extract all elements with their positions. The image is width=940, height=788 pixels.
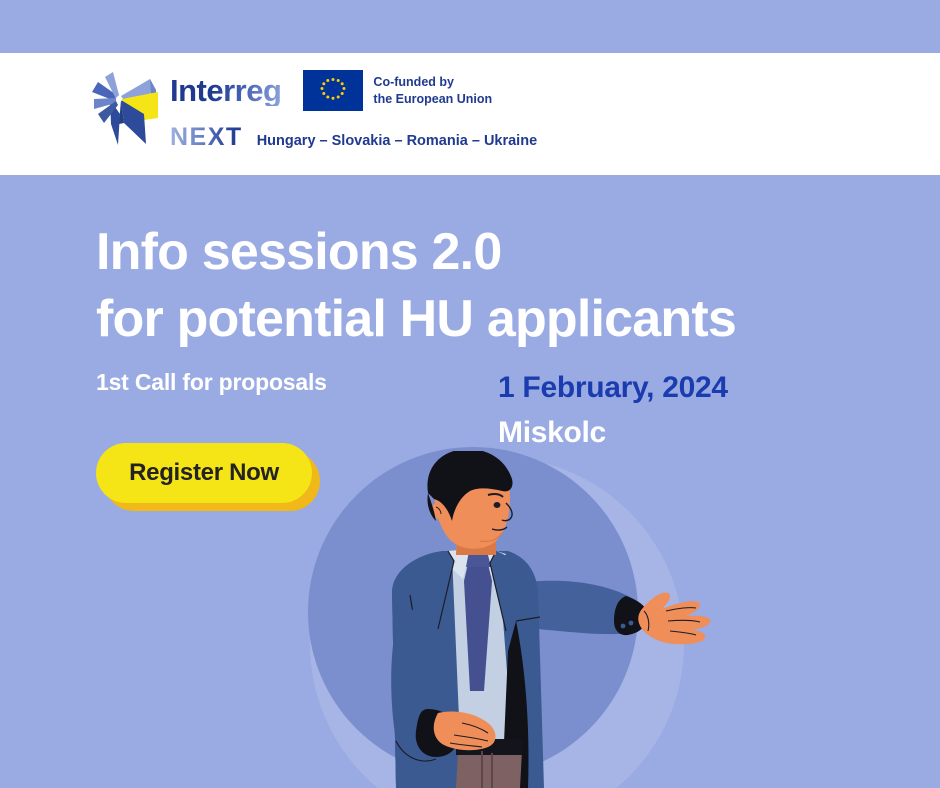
interreg-pinwheel-icon (88, 66, 160, 154)
hero-section: Info sessions 2.0 for potential HU appli… (0, 175, 940, 788)
eu-caption-line-2: the European Union (373, 91, 492, 108)
headline-line-2: for potential HU applicants (96, 286, 736, 353)
logo-primary-row: Interreg (170, 70, 537, 111)
event-banner: Interreg (0, 0, 940, 788)
eu-funding-caption: Co-funded by the European Union (373, 74, 492, 107)
eu-caption-line-1: Co-funded by (373, 74, 492, 91)
businessman-figure-icon (330, 451, 730, 788)
eu-funding-block: Co-funded by the European Union (303, 70, 492, 111)
logo-secondary-row: NEXT Hungary – Slovakia – Romania – Ukra… (170, 125, 537, 150)
subtitle: 1st Call for proposals (96, 369, 327, 396)
register-cta-wrapper: Register Now (96, 443, 320, 511)
interreg-wordmark: Interreg (170, 75, 281, 106)
programme-countries-label: Hungary – Slovakia – Romania – Ukraine (257, 133, 537, 149)
event-details-block: 1 February, 2024 Miskolc (498, 371, 728, 450)
logo-text-column: Interreg (170, 66, 537, 150)
headline-line-1: Info sessions 2.0 (96, 219, 736, 286)
page-title: Info sessions 2.0 for potential HU appli… (96, 219, 736, 352)
next-wordmark: NEXT (170, 125, 243, 150)
top-color-strip (0, 0, 940, 53)
interreg-next-logo-lockup: Interreg (88, 66, 537, 154)
register-now-button[interactable]: Register Now (96, 443, 312, 503)
european-union-flag-icon (303, 70, 363, 111)
event-city: Miskolc (498, 416, 728, 450)
businessman-presenting-illustration (330, 451, 730, 788)
event-date: 1 February, 2024 (498, 371, 728, 405)
